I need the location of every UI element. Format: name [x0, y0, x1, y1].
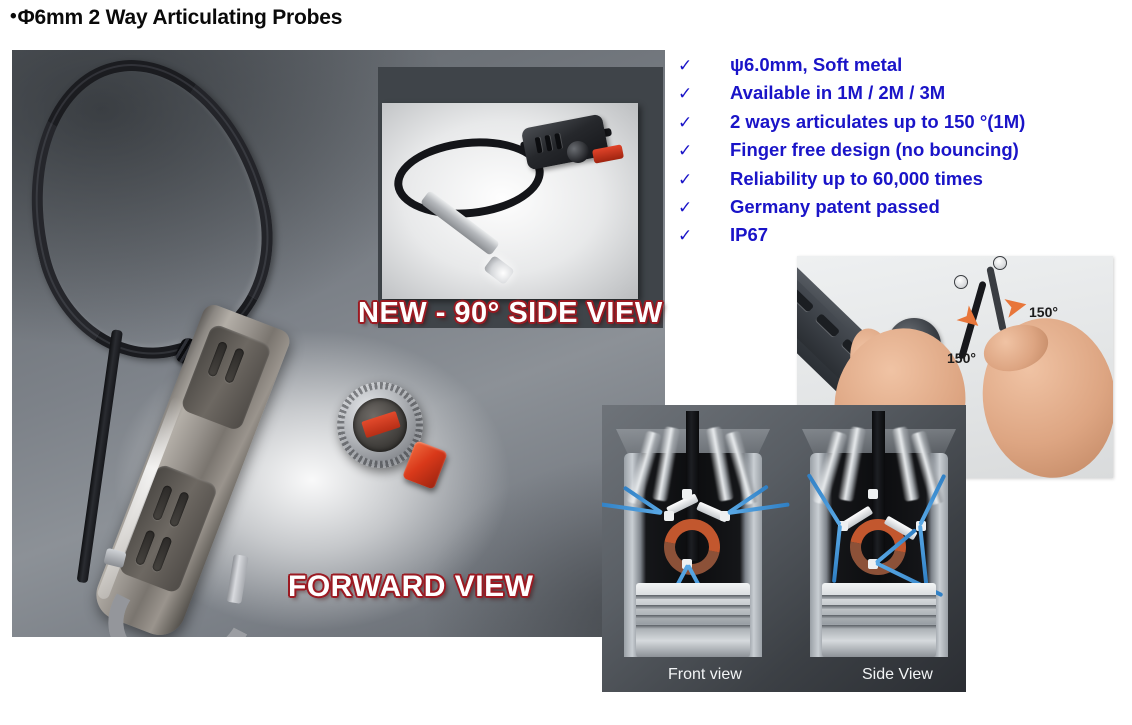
probe-sensor [682, 489, 692, 499]
check-icon: ✓ [678, 142, 730, 159]
feature-label: Reliability up to 60,000 times [730, 168, 983, 190]
hand-photo-probe-tip-b [993, 256, 1007, 270]
inset-body-slot [544, 135, 552, 152]
piston-ring [822, 595, 936, 599]
check-icon: ✓ [678, 199, 730, 216]
piston-ring [822, 625, 936, 629]
feature-item: ✓ 2 ways articulates up to 150 °(1M) [678, 111, 1130, 139]
check-icon: ✓ [678, 227, 730, 244]
piston-ring [822, 615, 936, 619]
engine-piston [822, 583, 936, 657]
feature-label: 2 ways articulates up to 150 °(1M) [730, 111, 1025, 133]
engine-piston [636, 583, 750, 657]
piston-ring [636, 625, 750, 629]
check-icon: ✓ [678, 57, 730, 74]
front-view-label: Front view [668, 666, 742, 684]
inset-illuminated-tip [483, 255, 515, 285]
feature-label: IP67 [730, 224, 768, 246]
angle-label-right: 150° [1029, 304, 1058, 320]
inset-body-slot [554, 133, 562, 150]
engine-cylinder-diagram-panel: Front view Side View [602, 405, 966, 692]
feature-item: ✓ Available in 1M / 2M / 3M [678, 82, 1130, 110]
feature-item: ✓ Finger free design (no bouncing) [678, 139, 1130, 167]
side-view-label: Side View [862, 666, 933, 684]
check-icon: ✓ [678, 171, 730, 188]
probe-sensor [664, 511, 674, 521]
inset-side-view-photo [378, 67, 663, 328]
inset-body-slot [535, 137, 543, 154]
callout-new-90-side-view: NEW - 90° SIDE VIEW [358, 297, 663, 330]
thumbwheel-hub [353, 398, 407, 452]
title-bullet-icon: • [10, 6, 16, 27]
page-title: •Φ6mm 2 Way Articulating Probes [10, 6, 342, 30]
check-icon: ✓ [678, 85, 730, 102]
cylinder-side-view [798, 411, 960, 657]
callout-forward-view: FORWARD VIEW [288, 570, 533, 604]
check-icon: ✓ [678, 114, 730, 131]
piston-ring [636, 605, 750, 609]
inset-photo-inner [382, 103, 638, 299]
piston-ring [636, 615, 750, 619]
hand-photo-probe-tip-a [954, 275, 968, 289]
piston-ring [636, 595, 750, 599]
feature-list: ✓ ψ6.0mm, Soft metal ✓ Available in 1M /… [678, 54, 1130, 253]
probe-sensor [868, 489, 878, 499]
angle-label-left: 150° [947, 350, 976, 366]
feature-item: ✓ ψ6.0mm, Soft metal [678, 54, 1130, 82]
articulation-arrow-left-icon: ➤ [950, 299, 989, 338]
feature-item: ✓ IP67 [678, 224, 1130, 252]
feature-label: ψ6.0mm, Soft metal [730, 54, 902, 76]
feature-item: ✓ Germany patent passed [678, 196, 1130, 224]
feature-item: ✓ Reliability up to 60,000 times [678, 168, 1130, 196]
thumbwheel-red-marker [361, 411, 400, 438]
piston-ring [822, 605, 936, 609]
articulation-arrow-right-icon: ➤ [1000, 290, 1031, 325]
feature-label: Available in 1M / 2M / 3M [730, 82, 945, 104]
cylinder-front-view [612, 411, 774, 657]
title-text: Φ6mm 2 Way Articulating Probes [17, 6, 342, 29]
feature-label: Germany patent passed [730, 196, 940, 218]
feature-label: Finger free design (no bouncing) [730, 139, 1019, 161]
